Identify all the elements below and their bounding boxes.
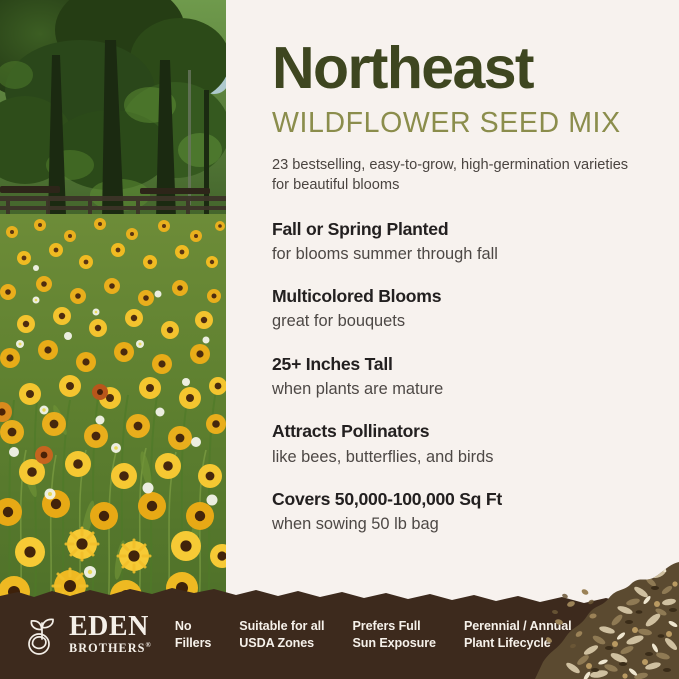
badge-line-2: USDA Zones [239,635,324,652]
feature-title: Covers 50,000-100,000 Sq Ft [272,489,651,510]
feature-subtitle: when sowing 50 lb bag [272,514,651,535]
feature-title: 25+ Inches Tall [272,354,651,375]
product-title: Northeast [272,39,651,98]
badge-line-1: Perennial / Annual [464,618,572,635]
badge-line-2: Sun Exposure [352,635,435,652]
product-info-card: Northeast WILDFLOWER SEED MIX 23 bestsel… [0,0,679,679]
sprout-seed-icon [20,613,64,657]
feature-item: Multicolored Blooms great for bouquets [272,286,651,332]
badge-line-2: Fillers [175,635,211,652]
feature-title: Attracts Pollinators [272,421,651,442]
feature-item: Covers 50,000-100,000 Sq Ft when sowing … [272,489,651,535]
product-subtitle: WILDFLOWER SEED MIX [272,108,651,139]
product-description: 23 bestselling, easy-to-grow, high-germi… [272,155,632,195]
feature-item: Attracts Pollinators like bees, butterfl… [272,421,651,467]
badge-usda-zones: Suitable for all USDA Zones [239,618,324,652]
feature-subtitle: like bees, butterflies, and birds [272,447,651,468]
brand-suffix-text: BROTHERS [69,641,146,655]
registered-mark: ® [146,641,152,649]
wildflower-meadow-photo [0,0,226,618]
badge-plant-lifecycle: Perennial / Annual Plant Lifecycle [464,618,572,652]
brand-suffix: BROTHERS® [69,642,152,655]
feature-title: Fall or Spring Planted [272,219,651,240]
feature-list: Fall or Spring Planted for blooms summer… [272,219,651,535]
brand-footer-bar: EDEN BROTHERS® No Fillers Suitable for a… [0,584,679,679]
feature-subtitle: when plants are mature [272,379,651,400]
feature-subtitle: for blooms summer through fall [272,244,651,265]
eden-brothers-logo[interactable]: EDEN BROTHERS® [20,613,152,657]
badge-line-1: Prefers Full [352,618,435,635]
feature-title: Multicolored Blooms [272,286,651,307]
badge-sun-exposure: Prefers Full Sun Exposure [352,618,435,652]
feature-item: Fall or Spring Planted for blooms summer… [272,219,651,265]
badge-line-1: No [175,618,211,635]
badge-line-2: Plant Lifecycle [464,635,572,652]
feature-item: 25+ Inches Tall when plants are mature [272,354,651,400]
badge-no-fillers: No Fillers [175,618,211,652]
badge-line-1: Suitable for all [239,618,324,635]
badge-list: No Fillers Suitable for all USDA Zones P… [175,618,572,652]
brand-wordmark: EDEN BROTHERS® [69,614,152,655]
product-details-panel: Northeast WILDFLOWER SEED MIX 23 bestsel… [226,0,679,618]
feature-subtitle: great for bouquets [272,311,651,332]
brand-name: EDEN [69,614,152,641]
